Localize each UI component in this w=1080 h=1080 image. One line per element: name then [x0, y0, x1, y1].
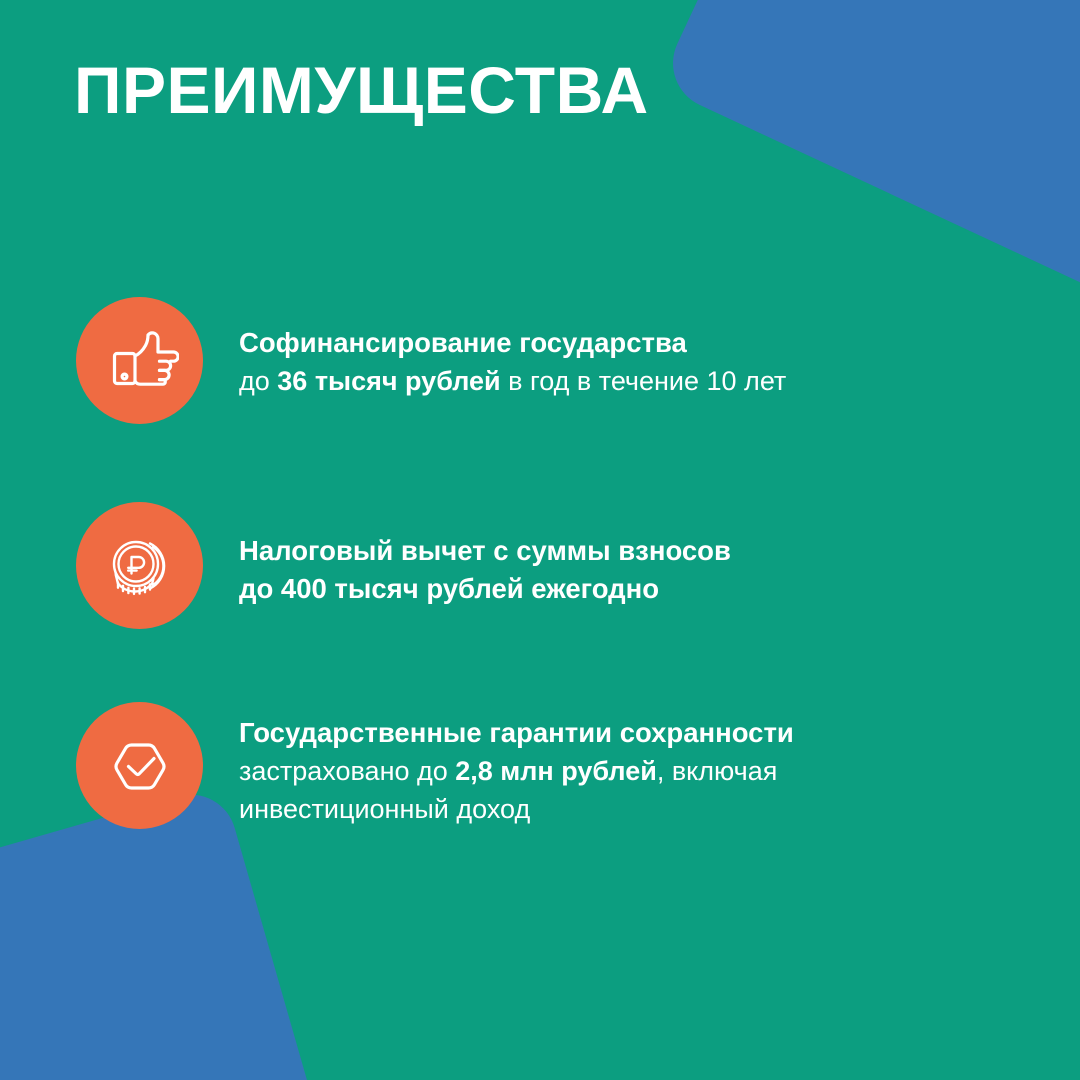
benefit-heading-3: Государственные гарантии сохранности — [239, 714, 794, 752]
benefit-detail-1-part-1: до — [239, 366, 277, 396]
benefit-detail-1-highlight: 36 тысяч рублей — [277, 366, 500, 396]
benefit-text-3: Государственные гарантии сохранности зас… — [239, 702, 794, 828]
decorative-shape-top-right — [658, 0, 1080, 322]
benefit-detail-3-line-1: застраховано до 2,8 млн рублей, включая — [239, 752, 794, 790]
thumbs-up-icon — [101, 322, 179, 400]
benefit-icon-badge-2 — [76, 502, 203, 629]
slide-canvas: ПРЕИМУЩЕСТВА Софинансирование государс — [0, 0, 1080, 1080]
hexagon-check-icon — [101, 727, 179, 805]
benefit-detail-3-part-3: , включая — [657, 756, 778, 786]
benefit-detail-1-part-3: в год в течение 10 лет — [501, 366, 787, 396]
benefit-text-1: Софинансирование государства до 36 тысяч… — [239, 297, 786, 400]
page-title: ПРЕИМУЩЕСТВА — [74, 54, 649, 126]
benefit-heading-1: Софинансирование государства — [239, 324, 786, 362]
benefit-item-2: Налоговый вычет с суммы взносов до 400 т… — [76, 502, 731, 629]
benefit-detail-3-highlight: 2,8 млн рублей — [455, 756, 657, 786]
benefit-detail-1: до 36 тысяч рублей в год в течение 10 ле… — [239, 362, 786, 400]
benefit-text-2: Налоговый вычет с суммы взносов до 400 т… — [239, 502, 731, 608]
benefit-item-3: Государственные гарантии сохранности зас… — [76, 702, 794, 829]
benefit-heading-2: Налоговый вычет с суммы взносов — [239, 532, 731, 570]
benefit-detail-2: до 400 тысяч рублей ежегодно — [239, 570, 731, 608]
benefit-detail-3-part-1: застраховано до — [239, 756, 455, 786]
benefit-detail-3-line-2: инвестиционный доход — [239, 790, 794, 828]
benefit-icon-badge-1 — [76, 297, 203, 424]
benefit-item-1: Софинансирование государства до 36 тысяч… — [76, 297, 786, 424]
ruble-coin-icon — [104, 530, 176, 602]
benefit-icon-badge-3 — [76, 702, 203, 829]
